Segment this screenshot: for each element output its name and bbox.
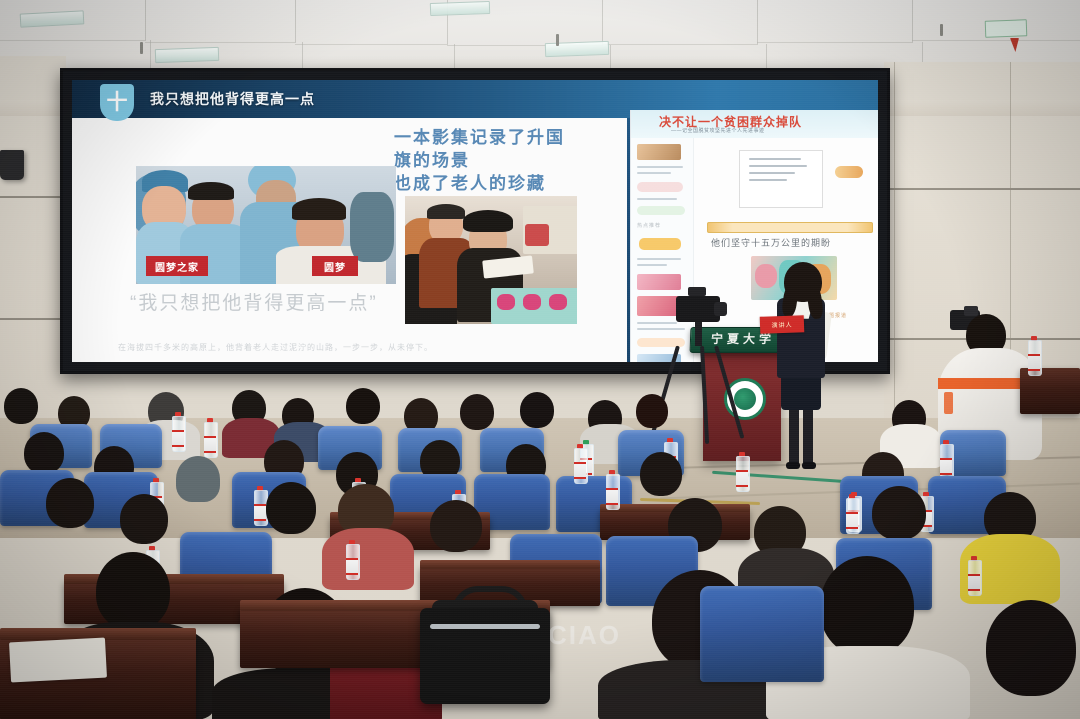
audience-head <box>640 452 682 496</box>
audience-head <box>430 500 482 552</box>
slide-photo-album <box>405 196 577 324</box>
audience-head <box>4 388 38 424</box>
slide-webpage-panel: 决不让一个贫困群众掉队 ——记全国脱贫攻坚先进个人先进事迹 热点推荐 <box>630 110 878 362</box>
slide-quote-large: “我只想把他背得更高一点” <box>130 292 378 316</box>
camera-hood-icon <box>964 306 978 316</box>
paper-sheet <box>9 638 107 683</box>
audience-head <box>176 456 220 502</box>
caption-line-3: 也成了老人的珍藏 <box>394 172 565 195</box>
audience-head-foreground <box>986 600 1076 696</box>
audience-head <box>460 394 494 430</box>
audience-head <box>266 482 316 534</box>
camera-mic-icon <box>688 287 706 296</box>
caption-line-2: 旗的场景 <box>394 149 565 172</box>
foreground-shirt-text: CIAO <box>548 620 621 651</box>
audience-head <box>872 486 926 540</box>
slide-blue-caption: 一本影集记录了升国 旗的场景 也成了老人的珍藏 <box>394 126 565 195</box>
audience-head-foreground <box>96 552 170 630</box>
lecture-hall-photo: 十 我只想把他背得更高一点 一本影集记录了升国 旗的场景 也成了老人的珍藏 <box>0 0 1080 719</box>
ceiling-light <box>430 1 490 16</box>
photo-caption-left: 圆梦之家 <box>146 256 208 276</box>
cross-badge-icon: 十 <box>100 84 134 121</box>
audience-head-foreground <box>820 556 914 656</box>
audience-head <box>520 392 554 428</box>
webpage-subhead: ——记全国脱贫攻坚先进个人先进事迹 <box>671 127 765 134</box>
operator-shirt-logo <box>944 392 953 414</box>
ceiling-light <box>155 47 219 63</box>
audience-head <box>636 394 668 428</box>
slide-photo-carrying: 圆梦之家 圆梦 <box>136 166 396 284</box>
ceiling-light <box>545 41 609 57</box>
bag-zipper <box>430 624 540 629</box>
audience-head <box>46 478 94 528</box>
audience-head <box>24 432 64 474</box>
slide-header-title: 我只想把他背得更高一点 <box>150 89 315 109</box>
audience-body <box>322 528 414 590</box>
wall-speaker-icon <box>0 150 24 180</box>
photo-caption-right: 圆梦 <box>312 256 358 276</box>
speaker-hair <box>784 262 822 302</box>
webpage-sidebar: 热点推荐 <box>631 138 694 362</box>
speaker-ribbon-badge: 演讲人 <box>760 315 805 334</box>
seat-foreground <box>700 586 824 682</box>
caption-line-1: 一本影集记录了升国 <box>394 126 565 149</box>
audience-head <box>346 388 380 424</box>
webpage-header: 决不让一个贫困群众掉队 ——记全国脱贫攻坚先进个人先进事迹 <box>631 110 878 138</box>
audience-head <box>120 494 168 544</box>
webpage-sidebar-label: 热点推荐 <box>637 222 661 229</box>
badge-glyph: 十 <box>107 92 128 113</box>
slide-quote-small: 在海拔四千多米的高原上，他背着老人走过泥泞的山路，一步一步，从未停下。 <box>118 342 588 354</box>
camera-bag <box>420 608 550 704</box>
camera-lens-icon <box>714 302 727 316</box>
webpage-section-caption: 他们坚守十五万公里的期盼 <box>711 236 831 249</box>
exit-sign-icon <box>985 19 1028 37</box>
